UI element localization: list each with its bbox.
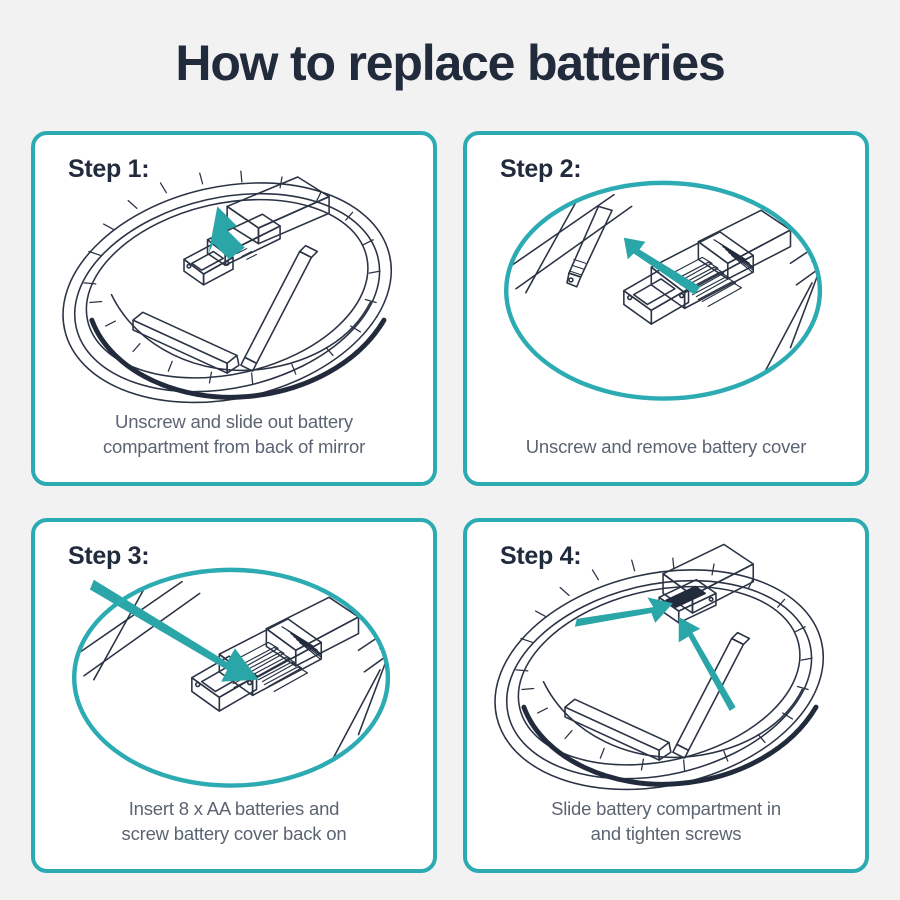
arrow-slide-in — [575, 597, 673, 626]
step-illustration-2 — [467, 143, 865, 411]
page-title: How to replace batteries — [0, 34, 900, 92]
step-caption-1: Unscrew and slide out battery compartmen… — [53, 410, 415, 460]
step-illustration-1 — [35, 143, 433, 411]
arrow-tighten-screw — [679, 617, 736, 711]
step-illustration-4 — [467, 530, 865, 798]
caption-line: screw battery cover back on — [53, 822, 415, 847]
caption-line: Unscrew and remove battery cover — [485, 435, 847, 460]
step-illustration-3 — [35, 530, 433, 798]
instruction-sheet: How to replace batteries Step 1: — [0, 0, 900, 900]
step-card-2: Step 2: — [463, 131, 869, 486]
zoom-ellipse — [506, 183, 820, 399]
step-card-3: Step 3: — [31, 518, 437, 873]
caption-line: and tighten screws — [485, 822, 847, 847]
step-card-1: Step 1: — [31, 131, 437, 486]
arrow-remove-direction — [624, 238, 700, 295]
arrow-insert-direction — [90, 580, 259, 682]
step-card-4: Step 4: — [463, 518, 869, 873]
step-caption-2: Unscrew and remove battery cover — [485, 435, 847, 460]
caption-line: Unscrew and slide out battery — [53, 410, 415, 435]
caption-line: Slide battery compartment in — [485, 797, 847, 822]
steps-grid: Step 1: — [31, 131, 869, 873]
caption-line: Insert 8 x AA batteries and — [53, 797, 415, 822]
step-caption-4: Slide battery compartment in and tighten… — [485, 797, 847, 847]
step-caption-3: Insert 8 x AA batteries and screw batter… — [53, 797, 415, 847]
caption-line: compartment from back of mirror — [53, 435, 415, 460]
